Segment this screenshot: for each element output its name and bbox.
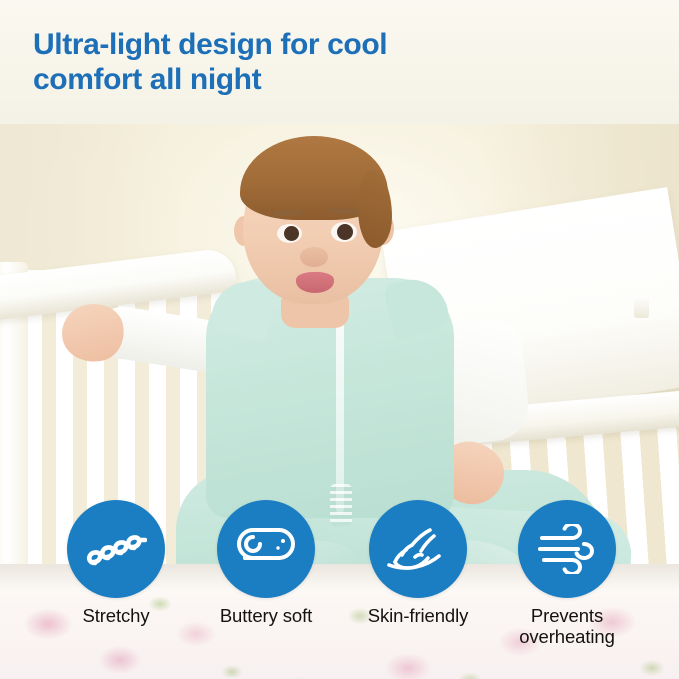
feature-icon-circle (67, 500, 165, 598)
feature-label: Prevents overheating (487, 605, 647, 647)
hand-on-fabric-icon (385, 524, 451, 574)
feature-prevents-overheating[interactable]: Prevents overheating (487, 500, 647, 647)
feature-icon-circle (369, 500, 467, 598)
feature-buttery-soft[interactable]: Buttery soft (186, 500, 346, 626)
feature-row: Stretchy Buttery soft (0, 0, 679, 679)
feature-label: Skin-friendly (338, 605, 498, 626)
feature-stretchy[interactable]: Stretchy (36, 500, 196, 626)
feature-skin-friendly[interactable]: Skin-friendly (338, 500, 498, 626)
feature-label: Stretchy (36, 605, 196, 626)
feature-icon-circle (518, 500, 616, 598)
wind-breeze-icon (536, 524, 598, 574)
spring-coil-icon (85, 527, 147, 571)
feature-icon-circle (217, 500, 315, 598)
product-infographic: Ultra-light design for cool comfort all … (0, 0, 679, 679)
feature-label: Buttery soft (186, 605, 346, 626)
rolled-fabric-icon (235, 525, 297, 573)
